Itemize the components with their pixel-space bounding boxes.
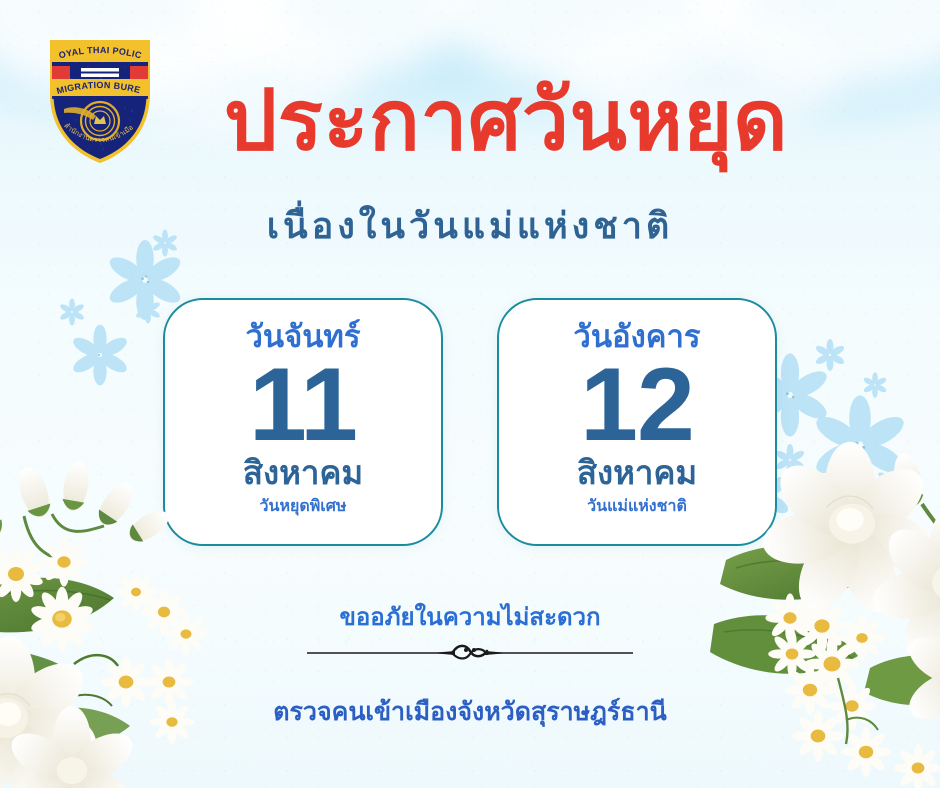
card-month-name: สิงหาคม — [577, 456, 697, 491]
apology-text: ขออภัยในความไม่สะดวก — [0, 597, 940, 636]
cloud-wash — [190, 0, 470, 80]
holiday-date-card-list: วันจันทร์ 11 สิงหาคม วันหยุดพิเศษ วันอัง… — [0, 298, 940, 546]
page-subtitle: เนื่องในวันแม่แห่งชาติ — [0, 197, 940, 254]
card-day-number: 12 — [580, 356, 694, 455]
card-day-number: 11 — [249, 356, 357, 455]
headline-text: ประกาศวันหยุด — [72, 78, 940, 162]
card-holiday-note: วันหยุดพิเศษ — [260, 494, 347, 519]
office-name: ตรวจคนเข้าเมืองจังหวัดสุราษฎร์ธานี — [0, 692, 940, 732]
card-month-name: สิงหาคม — [243, 456, 363, 491]
holiday-announcement-poster: ROYAL THAI POLICE IMMIGRATION BUREAU สำน… — [0, 0, 940, 788]
page-title: ประกาศวันหยุด — [0, 78, 940, 162]
holiday-date-card[interactable]: วันอังคาร 12 สิงหาคม วันแม่แห่งชาติ — [497, 298, 777, 546]
card-holiday-note: วันแม่แห่งชาติ — [587, 494, 687, 519]
ornamental-flourish-divider-icon — [305, 640, 635, 666]
holiday-date-card[interactable]: วันจันทร์ 11 สิงหาคม วันหยุดพิเศษ — [163, 298, 443, 546]
